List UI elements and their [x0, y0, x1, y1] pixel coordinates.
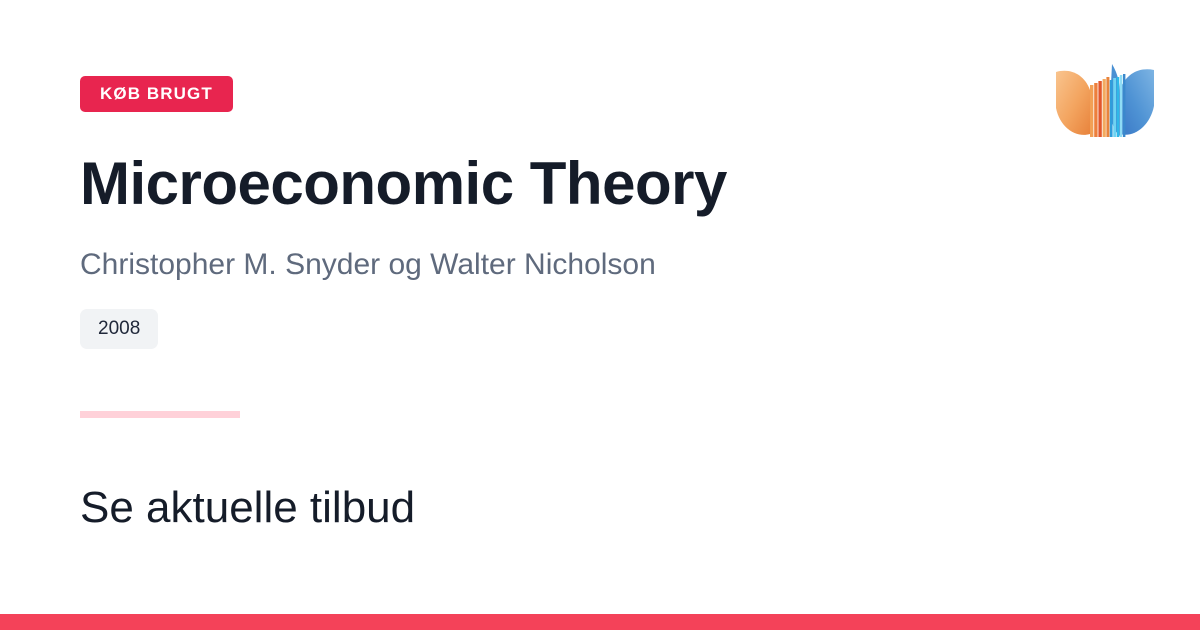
- publication-year-chip: 2008: [80, 309, 158, 349]
- bottom-accent-bar: [0, 614, 1200, 630]
- logo-mark: [1056, 64, 1154, 137]
- status-badge: KØB BRUGT: [80, 76, 233, 112]
- divider: [80, 411, 240, 418]
- logo-reflection: [1056, 139, 1154, 158]
- page-title: Microeconomic Theory: [80, 152, 727, 217]
- book-authors: Christopher M. Snyder og Walter Nicholso…: [80, 246, 656, 284]
- share-card: KØB BRUGT Microeconomic Theory Christoph…: [0, 0, 1200, 630]
- cta-heading: Se aktuelle tilbud: [80, 483, 415, 534]
- brand-logo: [1050, 50, 1160, 158]
